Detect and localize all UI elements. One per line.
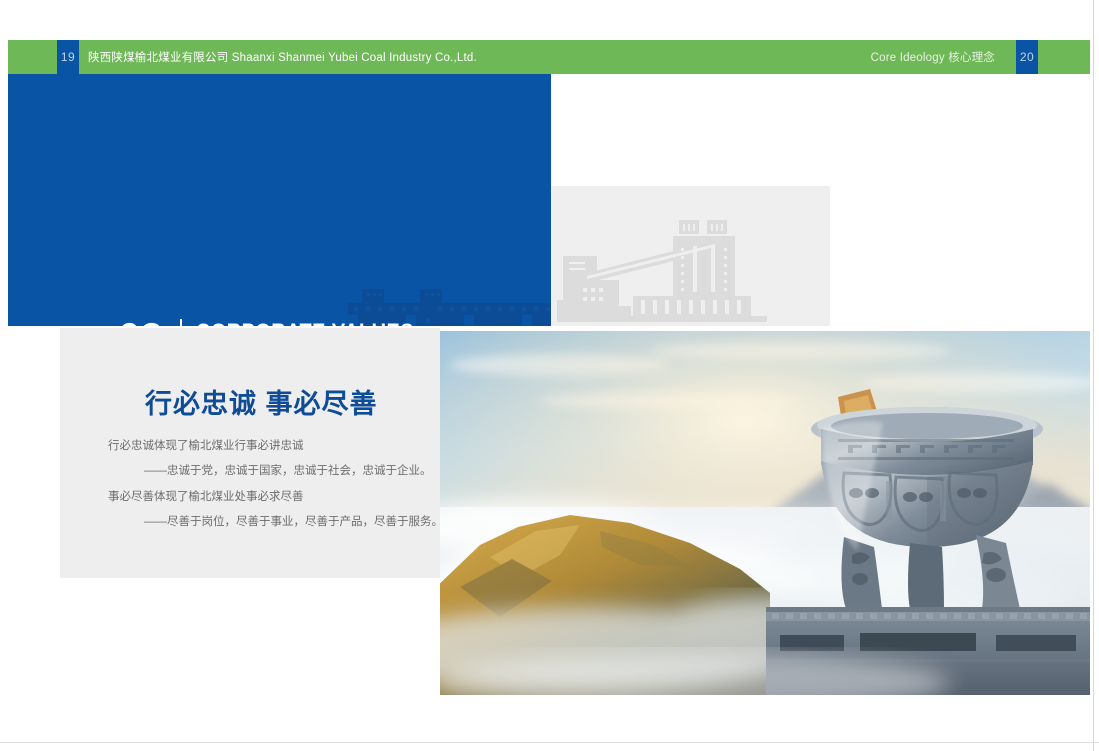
title-texts: CORPORATE VALUES 企业价值观 (196, 317, 438, 326)
values-body-line-2: ——忠诚于党，忠诚于国家，忠诚于社会，忠诚于企业。 (144, 463, 432, 480)
page-number-left: 19 (57, 40, 79, 74)
page-border-bottom (0, 742, 1099, 743)
values-heading: 行必忠诚 事必尽善 (145, 382, 378, 421)
page-number-right: 20 (1016, 40, 1038, 74)
section-title-english: CORPORATE VALUES (196, 319, 414, 326)
factory-silhouette-icon (557, 196, 827, 326)
section-number: 03 (118, 317, 169, 326)
values-body-line-1: 行必忠诚体现了榆北煤业行事必讲忠诚 (108, 438, 304, 455)
values-body-line-3: 事必尽善体现了榆北煤业处事必求尽善 (108, 489, 304, 506)
title-divider (180, 319, 182, 326)
hero-band: 03 CORPORATE VALUES 企业价值观 (8, 74, 551, 326)
page-border-right (1093, 0, 1094, 751)
section-title-block: 03 CORPORATE VALUES 企业价值观 (118, 317, 439, 326)
plant-illustration-panel (551, 186, 830, 326)
slide-page: 03 CORPORATE VALUES 企业价值观 (0, 0, 1099, 751)
header-section-label: Core Ideology 核心理念 (871, 40, 995, 74)
header-company-name: 陕西陕煤榆北煤业有限公司 Shaanxi Shanmei Yubei Coal … (88, 40, 477, 74)
header-bar: 19 陕西陕煤榆北煤业有限公司 Shaanxi Shanmei Yubei Co… (8, 40, 1090, 74)
values-content-card: 行必忠诚 事必尽善 行必忠诚体现了榆北煤业行事必讲忠诚 ——忠诚于党，忠诚于国家… (60, 328, 440, 578)
hero-photograph (440, 331, 1090, 695)
values-body-line-4: ——尽善于岗位，尽善于事业，尽善于产品，尽善于服务。 (144, 514, 443, 531)
